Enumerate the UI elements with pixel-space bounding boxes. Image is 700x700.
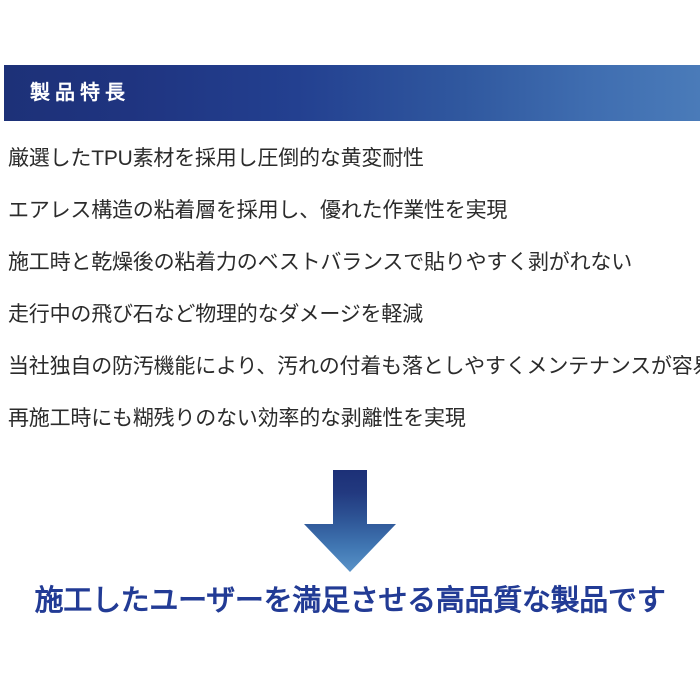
feature-item-2: エアレス構造の粘着層を採用し、優れた作業性を実現: [8, 200, 700, 252]
feature-list: 厳選したTPU素材を採用し圧倒的な黄変耐性 エアレス構造の粘着層を採用し、優れた…: [8, 148, 700, 460]
feature-item-4: 走行中の飛び石など物理的なダメージを軽減: [8, 304, 700, 356]
product-features-panel: 製品特長 厳選したTPU素材を採用し圧倒的な黄変耐性 エアレス構造の粘着層を採用…: [0, 0, 700, 700]
arrow-down-icon: [302, 468, 398, 574]
arrow-container: [0, 468, 700, 576]
page-title: 製品特長: [30, 83, 130, 103]
feature-item-3: 施工時と乾燥後の粘着力のベストバランスで貼りやすく剥がれない: [8, 252, 700, 304]
feature-item-1: 厳選したTPU素材を採用し圧倒的な黄変耐性: [8, 148, 700, 200]
feature-item-6: 再施工時にも糊残りのない効率的な剥離性を実現: [8, 408, 700, 460]
feature-item-5: 当社独自の防汚機能により、汚れの付着も落としやすくメンテナンスが容易: [8, 356, 700, 408]
section-header-bar: 製品特長: [4, 65, 700, 121]
conclusion-headline: 施工したユーザーを満足させる高品質な製品です: [0, 582, 700, 621]
